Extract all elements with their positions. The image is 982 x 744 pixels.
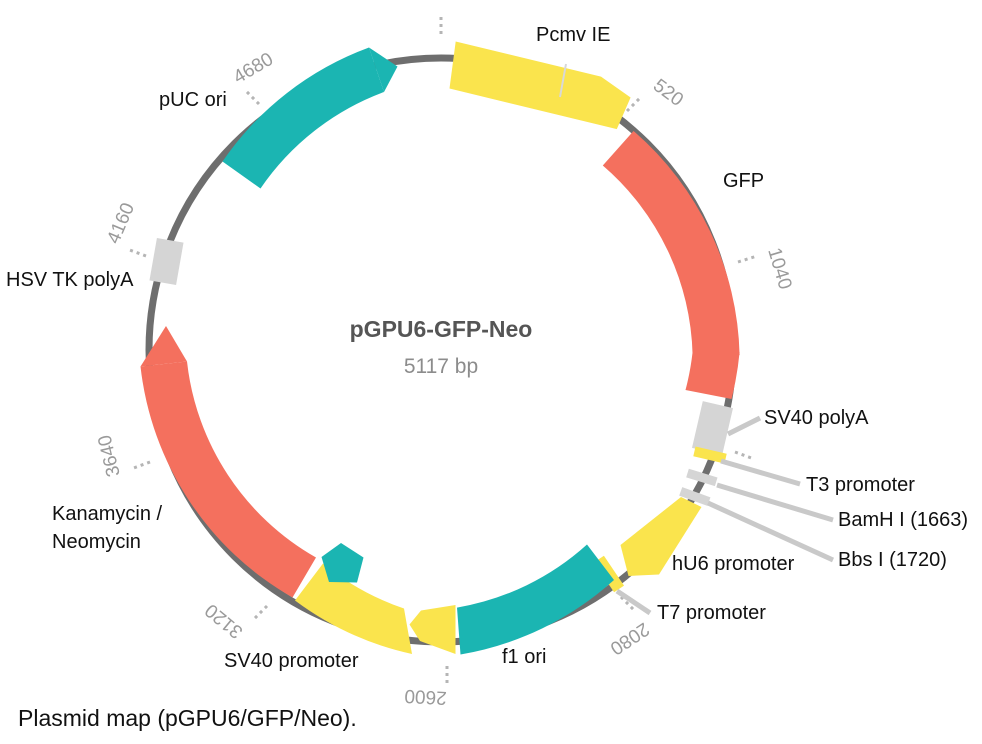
feature-label-kanamycin: Kanamycin / bbox=[52, 503, 162, 525]
tick-mark-4680 bbox=[245, 90, 259, 104]
feature-label-f1-ori: f1 ori bbox=[502, 646, 546, 668]
leader-line-sv40-polya bbox=[728, 418, 760, 434]
plasmid-map-figure: 520 1040 2080 2600 3120 3640 4160 4680 bbox=[0, 0, 982, 744]
figure-caption: Plasmid map (pGPU6/GFP/Neo). bbox=[18, 705, 357, 731]
feature-pcmv-ie[interactable] bbox=[450, 42, 631, 130]
feature-shape-gfp[interactable] bbox=[603, 131, 740, 355]
feature-label-hu6-promoter: hU6 promoter bbox=[672, 553, 795, 575]
tick-label-4680: 4680 bbox=[230, 49, 277, 89]
feature-label-bbsi: Bbs I (1720) bbox=[838, 549, 947, 571]
tick-mark-3640 bbox=[131, 462, 150, 469]
feature-label-hsv-tk-polya: HSV TK polyA bbox=[6, 269, 134, 291]
feature-shape-kanamycin-neomycin[interactable] bbox=[141, 362, 317, 598]
tick-label-2080: 2080 bbox=[606, 618, 653, 659]
tick-marks bbox=[127, 14, 757, 686]
feature-label-bamhi: BamH I (1663) bbox=[838, 509, 968, 531]
feature-label-puc-ori: pUC ori bbox=[159, 89, 227, 111]
feature-label-neomycin: Neomycin bbox=[52, 531, 141, 553]
feature-shape-pcmv-ie bbox=[450, 42, 631, 130]
feature-shape-gfp-tail[interactable] bbox=[686, 352, 740, 399]
tick-mark-1560 bbox=[735, 452, 754, 459]
feature-shape-sv40-polya[interactable] bbox=[692, 401, 733, 455]
tick-mark-1040 bbox=[738, 256, 757, 262]
feature-label-t3-promoter: T3 promoter bbox=[806, 474, 915, 496]
feature-label-sv40-polya: SV40 polyA bbox=[764, 407, 869, 429]
feature-shape-inner-pentagon[interactable] bbox=[322, 543, 364, 583]
feature-shape-hsv-tk-polya[interactable] bbox=[149, 238, 183, 285]
feature-label-t7-promoter: T7 promoter bbox=[657, 602, 766, 624]
plasmid-name: pGPU6-GFP-Neo bbox=[350, 316, 533, 342]
feature-label-pcmv-ie: Pcmv IE bbox=[536, 24, 610, 46]
plasmid-length: 5117 bp bbox=[404, 355, 478, 378]
leader-line-t7-promoter bbox=[617, 591, 650, 613]
leader-line-t3-promoter bbox=[721, 461, 800, 484]
tick-mark-4160 bbox=[127, 249, 146, 256]
tick-mark-3120 bbox=[253, 606, 267, 620]
tick-label-1040: 1040 bbox=[763, 245, 795, 292]
plasmid-diagram: 520 1040 2080 2600 3120 3640 4160 4680 bbox=[0, 0, 982, 744]
tick-label-2600: 2600 bbox=[404, 685, 447, 708]
tick-label-520: 520 bbox=[649, 75, 687, 111]
tick-label-3640: 3640 bbox=[94, 433, 124, 479]
tick-label-4160: 4160 bbox=[103, 200, 139, 247]
leader-lines bbox=[617, 418, 833, 613]
leader-line-bbsi bbox=[708, 503, 833, 560]
feature-shape-sv40-promoter-head[interactable] bbox=[410, 605, 456, 654]
feature-label-sv40-promoter: SV40 promoter bbox=[224, 650, 359, 672]
feature-label-gfp: GFP bbox=[723, 170, 764, 192]
tick-label-3120: 3120 bbox=[201, 599, 247, 642]
